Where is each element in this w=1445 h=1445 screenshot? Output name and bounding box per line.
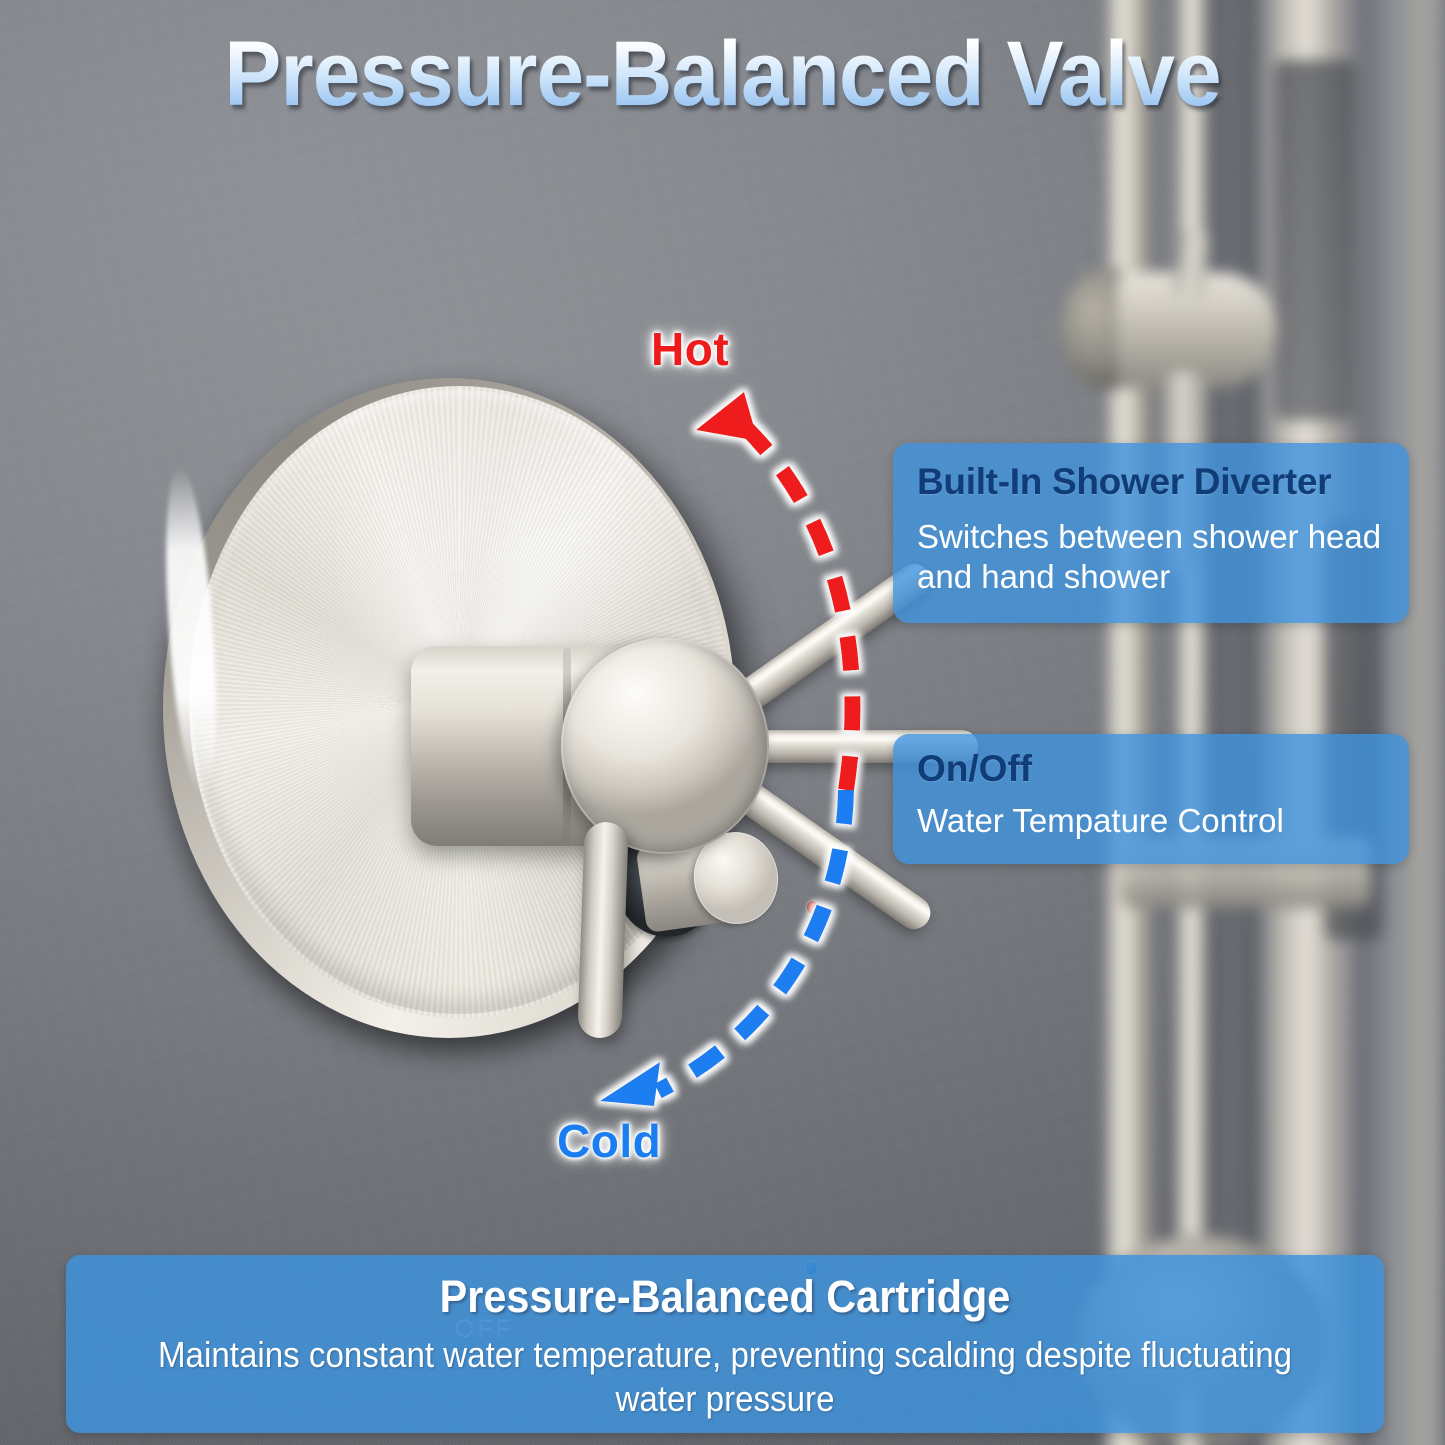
- callout-title: On/Off: [893, 734, 1409, 790]
- hot-label: Hot: [651, 322, 729, 376]
- cold-direction-arrow-icon: [600, 1062, 660, 1106]
- infographic-canvas: OFF: [0, 0, 1445, 1445]
- banner-pressure-balanced-cartridge: Pressure-Balanced Cartridge Maintains co…: [66, 1255, 1384, 1433]
- banner-body: Maintains constant water temperature, pr…: [119, 1323, 1332, 1421]
- banner-title: Pressure-Balanced Cartridge: [119, 1255, 1332, 1323]
- page-title: Pressure-Balanced Valve: [51, 28, 1395, 120]
- callout-body: Switches between shower head and hand sh…: [893, 503, 1409, 596]
- hot-dashed-arc-icon: [742, 424, 852, 790]
- callout-body: Water Tempature Control: [893, 790, 1409, 840]
- callout-on-off: On/Off Water Tempature Control: [893, 734, 1409, 864]
- cold-dashed-arc-icon: [658, 790, 846, 1091]
- hot-direction-arrow-icon: [696, 392, 758, 441]
- callout-title: Built-In Shower Diverter: [893, 443, 1409, 503]
- cold-label: Cold: [557, 1114, 661, 1168]
- callout-shower-diverter: Built-In Shower Diverter Switches betwee…: [893, 443, 1409, 623]
- rotation-direction-arcs: [0, 0, 1445, 1445]
